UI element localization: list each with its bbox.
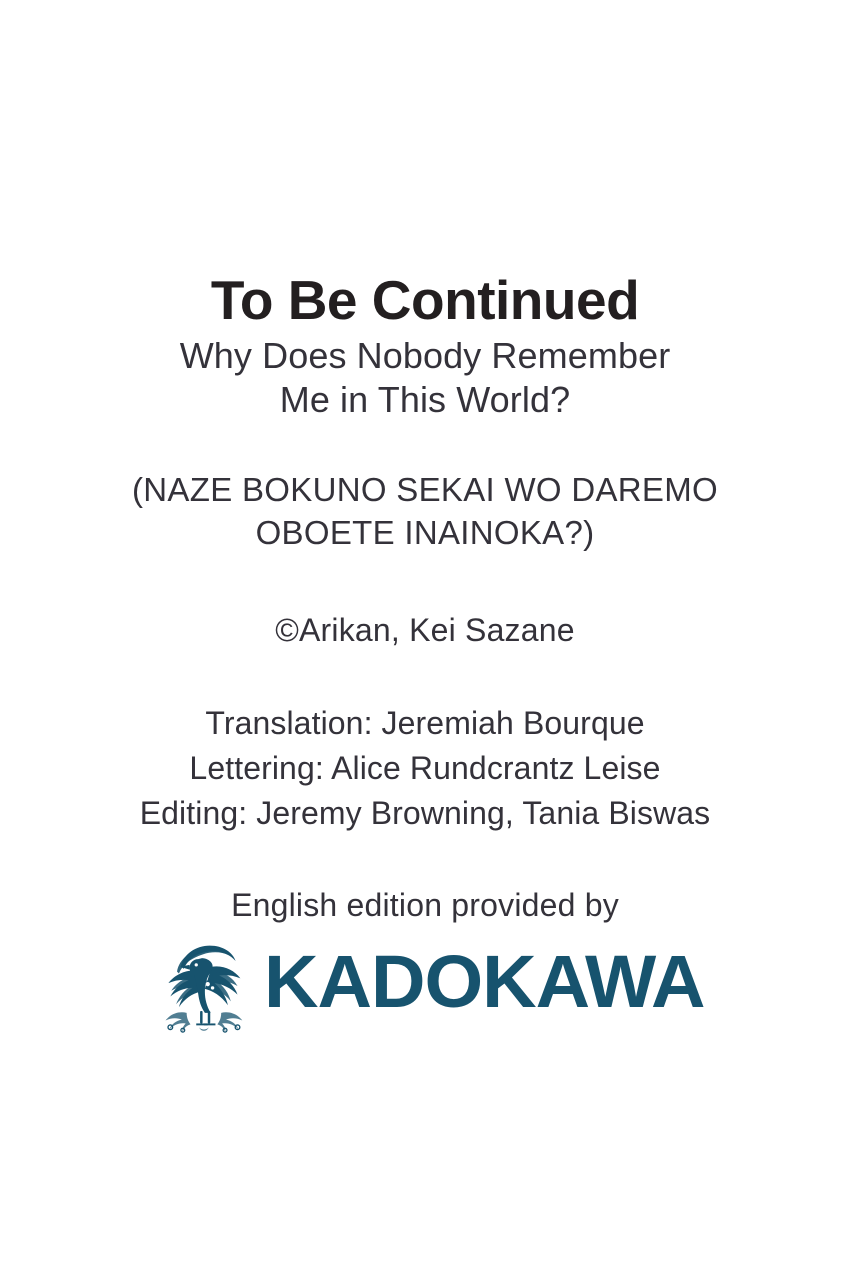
to-be-continued-heading: To Be Continued bbox=[0, 272, 850, 328]
kadokawa-phoenix-icon bbox=[154, 938, 250, 1034]
credits-block: To Be Continued Why Does Nobody Remember… bbox=[0, 272, 850, 1030]
kadokawa-wordmark: KADOKAWA bbox=[264, 949, 705, 1016]
romaji-title-line-1: (NAZE BOKUNO SEKAI WO DAREMO bbox=[0, 468, 850, 512]
series-title-line-1: Why Does Nobody Remember bbox=[0, 334, 850, 378]
romaji-title: (NAZE BOKUNO SEKAI WO DAREMO OBOETE INAI… bbox=[0, 468, 850, 555]
romaji-title-line-2: OBOETE INAINOKA?) bbox=[0, 511, 850, 555]
copyright-notice: ©Arikan, Kei Sazane bbox=[0, 611, 850, 649]
kadokawa-logo: KADOKAWA bbox=[0, 934, 850, 1030]
staff-credits: Translation: Jeremiah Bourque Lettering:… bbox=[0, 701, 850, 835]
series-title: Why Does Nobody Remember Me in This Worl… bbox=[0, 334, 850, 422]
end-credits-page: To Be Continued Why Does Nobody Remember… bbox=[0, 0, 850, 1275]
credit-line-editing: Editing: Jeremy Browning, Tania Biswas bbox=[0, 791, 850, 836]
series-title-line-2: Me in This World? bbox=[0, 378, 850, 422]
credit-line-translation: Translation: Jeremiah Bourque bbox=[0, 701, 850, 746]
credit-line-lettering: Lettering: Alice Rundcrantz Leise bbox=[0, 746, 850, 791]
publisher-note: English edition provided by bbox=[0, 886, 850, 924]
